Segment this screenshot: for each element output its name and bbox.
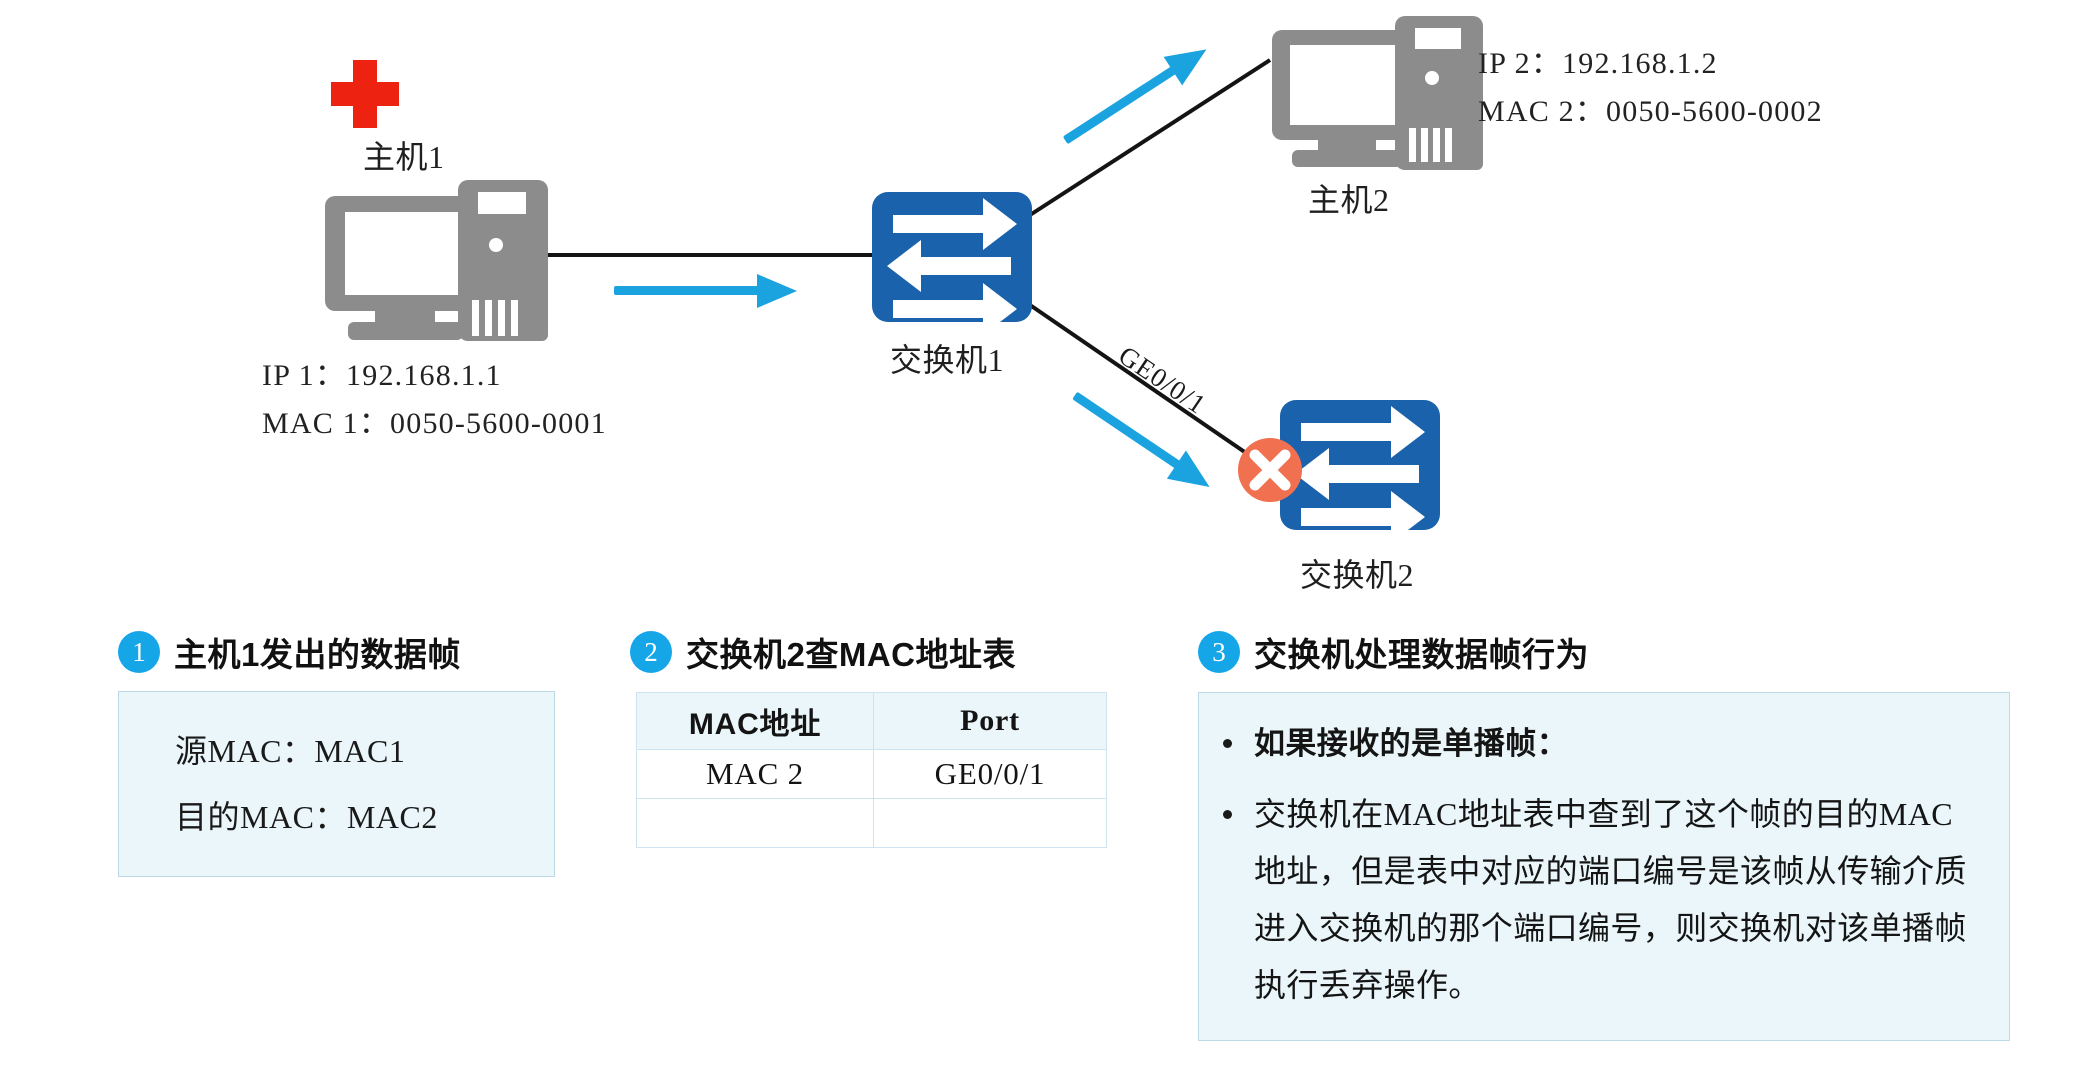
frame-dest-mac: 目的MAC：MAC2	[175, 784, 554, 850]
flow-arrow-switch1-host2	[1056, 35, 1215, 155]
panel1-number-badge: 1	[118, 631, 160, 673]
panel2-heading: 2 交换机2查MAC地址表	[630, 628, 1107, 676]
cell-port-value: GE0/0/1	[874, 750, 1107, 799]
panel2-title: 交换机2查MAC地址表	[686, 628, 1016, 676]
table-row	[637, 799, 1107, 848]
panel-frame-sent: 1 主机1发出的数据帧 源MAC：MAC1 目的MAC：MAC2	[118, 628, 555, 877]
panel-mac-table: 2 交换机2查MAC地址表 MAC地址 Port MAC 2 GE0/0/1	[630, 628, 1107, 848]
flow-arrow-host1-switch1	[614, 274, 797, 308]
table-header-row: MAC地址 Port	[637, 693, 1107, 750]
behavior-bullet-2: 交换机在MAC地址表中查到了这个帧的目的MAC地址，但是表中对应的端口编号是该帧…	[1254, 786, 1975, 1014]
table-row: MAC 2 GE0/0/1	[637, 750, 1107, 799]
panel3-heading: 3 交换机处理数据帧行为	[1198, 628, 2010, 676]
host1-info: IP 1：192.168.1.1 MAC 1：0050-5600-0001	[262, 352, 607, 448]
switch2-icon	[1280, 400, 1440, 543]
host2-computer-icon	[1272, 16, 1483, 170]
panel1-heading: 1 主机1发出的数据帧	[118, 628, 555, 676]
host2-mac: MAC 2：0050-5600-0002	[1478, 88, 1823, 136]
behavior-detail-box: 如果接收的是单播帧： 交换机在MAC地址表中查到了这个帧的目的MAC地址，但是表…	[1198, 692, 2010, 1041]
host2-info: IP 2：192.168.1.2 MAC 2：0050-5600-0002	[1478, 40, 1823, 136]
column-header-mac: MAC地址	[637, 693, 874, 750]
cell-mac-empty	[637, 799, 874, 848]
list-item: 交换机在MAC地址表中查到了这个帧的目的MAC地址，但是表中对应的端口编号是该帧…	[1223, 786, 1975, 1014]
red-cross-marker	[331, 60, 399, 128]
panel1-title: 主机1发出的数据帧	[174, 628, 461, 676]
blocked-x-icon	[1238, 438, 1302, 502]
host1-mac: MAC 1：0050-5600-0001	[262, 400, 607, 448]
column-header-port: Port	[874, 693, 1107, 750]
cell-mac-value: MAC 2	[637, 750, 874, 799]
host2-label: 主机2	[1308, 175, 1390, 221]
switch1-label: 交换机1	[890, 335, 1004, 381]
panel3-number-badge: 3	[1198, 631, 1240, 673]
frame-source-mac: 源MAC：MAC1	[175, 718, 554, 784]
bullet-icon	[1223, 739, 1232, 748]
list-item: 如果接收的是单播帧：	[1223, 715, 1975, 772]
panel2-number-badge: 2	[630, 631, 672, 673]
bullet-icon	[1223, 810, 1232, 819]
host2-ip: IP 2：192.168.1.2	[1478, 40, 1823, 88]
host1-label: 主机1	[363, 132, 445, 178]
panel3-title: 交换机处理数据帧行为	[1254, 628, 1589, 676]
diagram-canvas: 主机1 IP 1：192.168.1.1 MAC 1：0050-5600-000…	[0, 0, 2077, 1085]
frame-detail-box: 源MAC：MAC1 目的MAC：MAC2	[118, 691, 555, 877]
switch1-icon	[872, 192, 1032, 335]
cell-port-empty	[874, 799, 1107, 848]
behavior-bullet-1: 如果接收的是单播帧：	[1254, 715, 1568, 772]
switch2-label: 交换机2	[1300, 550, 1414, 596]
panel-switch-behavior: 3 交换机处理数据帧行为 如果接收的是单播帧： 交换机在MAC地址表中查到了这个…	[1198, 628, 2010, 1041]
host1-computer-icon	[325, 180, 548, 341]
mac-address-table: MAC地址 Port MAC 2 GE0/0/1	[636, 692, 1107, 848]
host1-ip: IP 1：192.168.1.1	[262, 352, 607, 400]
